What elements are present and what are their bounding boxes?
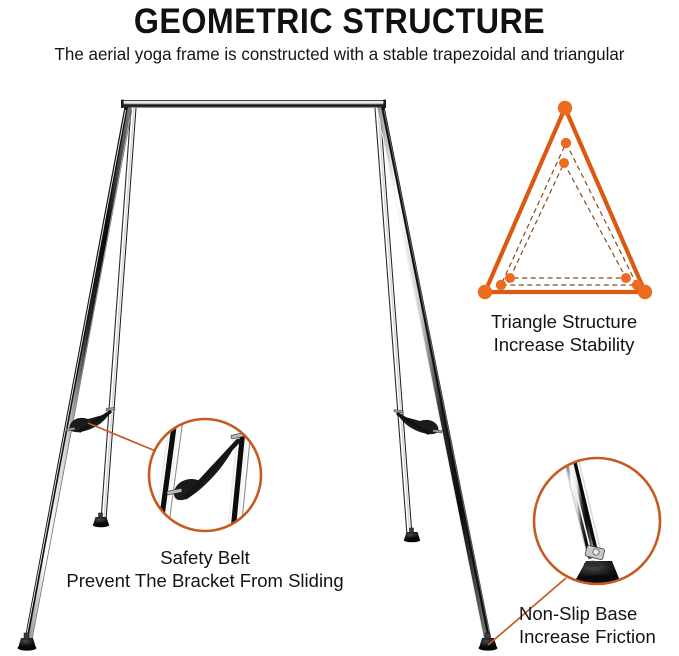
dashed-triangle-middle — [501, 143, 637, 285]
caption-line-1: Triangle Structure — [449, 310, 679, 333]
solid-triangle-outer — [485, 108, 645, 292]
frame-leg-front-right — [377, 108, 491, 641]
caption-triangle-structure: Triangle Structure Increase Stability — [449, 310, 679, 356]
callout-leader-line-belt — [88, 423, 158, 452]
caption-safety-belt: Safety Belt Prevent The Bracket From Sli… — [30, 546, 380, 592]
caption-line-1: Non-Slip Base — [519, 602, 679, 625]
triangle-vertex-dot — [505, 273, 515, 283]
triangle-vertex-dot — [632, 280, 642, 290]
caption-non-slip-base: Non-Slip Base Increase Friction — [519, 602, 679, 648]
triangle-vertex-dot — [561, 138, 571, 148]
caption-line-2: Increase Stability — [449, 333, 679, 356]
dashed-triangle-inner — [510, 163, 626, 278]
caption-line-2: Prevent The Bracket From Sliding — [30, 569, 380, 592]
caption-line-1: Safety Belt — [30, 546, 380, 569]
triangle-vertex-dot — [559, 158, 569, 168]
triangle-vertex-dot — [621, 273, 631, 283]
foot-bottom-right — [479, 633, 498, 651]
triangle-vertex-dot — [478, 285, 492, 299]
triangle-structure-diagram — [478, 101, 652, 299]
infographic-root: GEOMETRIC STRUCTURE The aerial yoga fram… — [0, 0, 679, 656]
safety-belt-callout — [88, 419, 261, 531]
frame-top-bar — [121, 100, 386, 108]
triangle-vertex-dot — [558, 101, 572, 115]
caption-line-2: Increase Friction — [519, 625, 679, 648]
triangle-vertex-dot — [496, 280, 506, 290]
foot-bottom-left — [18, 633, 37, 651]
